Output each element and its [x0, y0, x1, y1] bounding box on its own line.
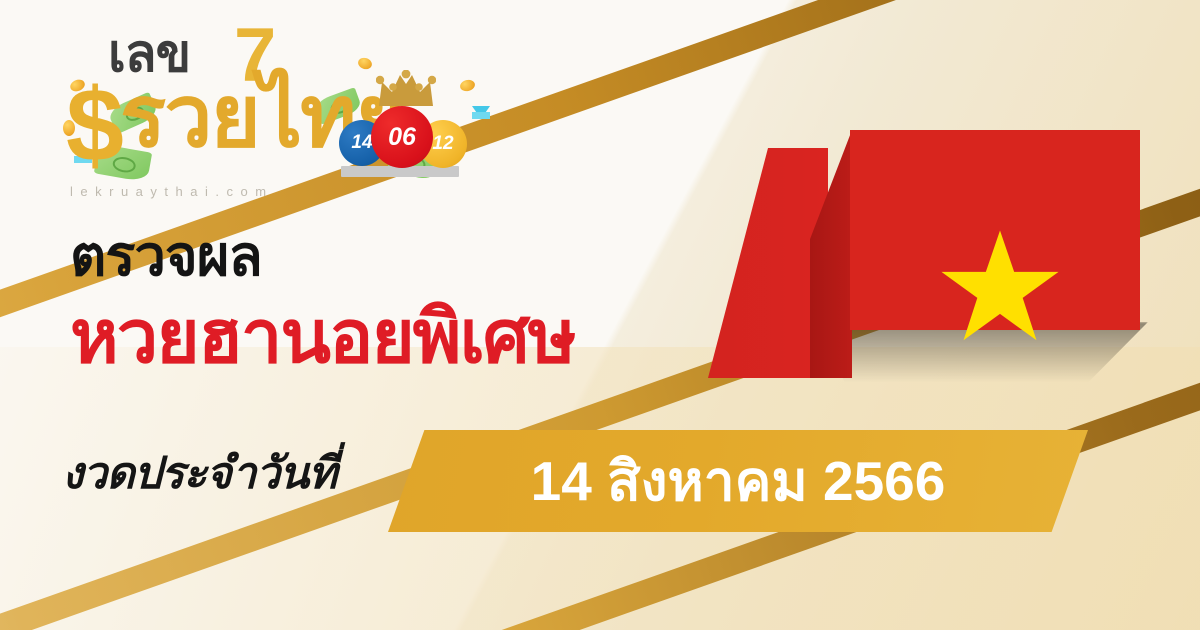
page-subtitle: ตรวจผล [70, 228, 262, 284]
logo-website-url[interactable]: lekruaythai.com [70, 184, 274, 199]
draw-date-label: งวดประจำวันที่ [62, 452, 336, 496]
draw-date-value: 14 สิงหาคม 2566 [388, 430, 1088, 532]
page-title: หวยฮานอยพิเศษ [70, 300, 575, 374]
crown-icon [376, 70, 436, 108]
lottery-ball-red: 06 [371, 106, 433, 168]
site-logo[interactable]: $ เลข 7 รวยไทย 14 12 06 lekruaythai.com [58, 22, 478, 212]
lottery-ball-cluster: 14 12 06 [333, 70, 478, 175]
logo-dollar-symbol: $ [66, 74, 124, 178]
banner-canvas: $ เลข 7 รวยไทย 14 12 06 lekruaythai.com [0, 0, 1200, 630]
vietnam-flag-icon [700, 90, 1180, 420]
